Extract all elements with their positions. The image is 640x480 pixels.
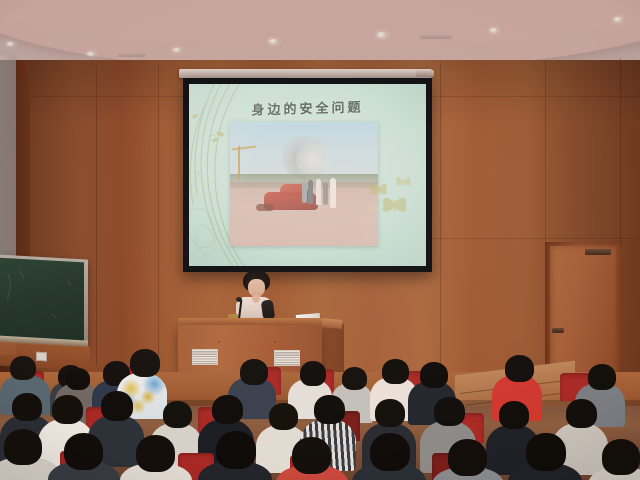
audience-member-head: [136, 435, 175, 472]
audience-member-head: [566, 399, 597, 428]
downlight-icon: [86, 52, 96, 56]
audience-member-head: [101, 391, 133, 421]
audience-member-head: [499, 401, 529, 429]
downlight-icon: [376, 32, 388, 38]
microphone-icon: [236, 297, 242, 302]
audience-member-head: [526, 433, 566, 471]
audience-member-head: [448, 439, 487, 476]
ceiling-vent: [420, 35, 452, 39]
audience-member-head: [370, 433, 410, 471]
audience-member-head: [602, 439, 640, 475]
audience-member-head: [64, 433, 103, 470]
downlight-icon: [489, 28, 499, 33]
ceiling-vent: [118, 53, 146, 57]
wall-panel-seam: [158, 64, 159, 364]
audience-member-head: [375, 399, 405, 427]
lectern-screw: [274, 341, 276, 343]
audience-member-head: [434, 397, 465, 426]
audience-member-head: [314, 395, 345, 424]
door-handle-icon[interactable]: [552, 328, 564, 333]
audience-member-head: [130, 349, 160, 377]
audience-member-head: [10, 356, 36, 380]
butterfly-icon: [368, 176, 422, 218]
audience-member-head: [216, 431, 256, 469]
wall-panel-seam: [430, 238, 640, 239]
door-closer-plate: [585, 249, 611, 255]
audience: [0, 345, 640, 480]
wall-panel-seam: [96, 66, 97, 366]
audience-member-head: [269, 403, 298, 430]
projection-screen: 身边的安全问题: [189, 84, 426, 266]
chalk-marks: [0, 258, 84, 343]
audience-member-head: [420, 362, 448, 388]
audience-member-head: [4, 429, 42, 465]
downlight-icon: [172, 48, 182, 52]
audience-member-head: [588, 364, 616, 390]
lecture-hall-photo: 身边的安全问题: [0, 0, 640, 480]
audience-member-head: [12, 393, 42, 421]
downlight-icon: [268, 39, 279, 44]
wall-panel-seam: [440, 62, 441, 367]
lectern-screw: [218, 341, 220, 343]
audience-member-head: [240, 359, 268, 385]
photo-haze: [230, 122, 378, 246]
audience-member-head: [382, 359, 409, 384]
audience-member-head: [52, 395, 83, 424]
audience-member-head: [292, 437, 331, 474]
audience-member-head: [66, 368, 90, 390]
screen-housing-cap: [416, 70, 434, 77]
downlight-icon: [613, 17, 623, 22]
screen-housing: [179, 69, 432, 78]
audience-member-head: [505, 355, 534, 382]
slide-photo: [230, 122, 378, 246]
audience-member-head: [300, 361, 326, 386]
audience-member-head: [163, 401, 192, 428]
downlight-icon: [6, 42, 15, 46]
audience-member-head: [212, 395, 243, 424]
presenter-hand: [252, 294, 260, 303]
audience-member-head: [342, 367, 367, 390]
